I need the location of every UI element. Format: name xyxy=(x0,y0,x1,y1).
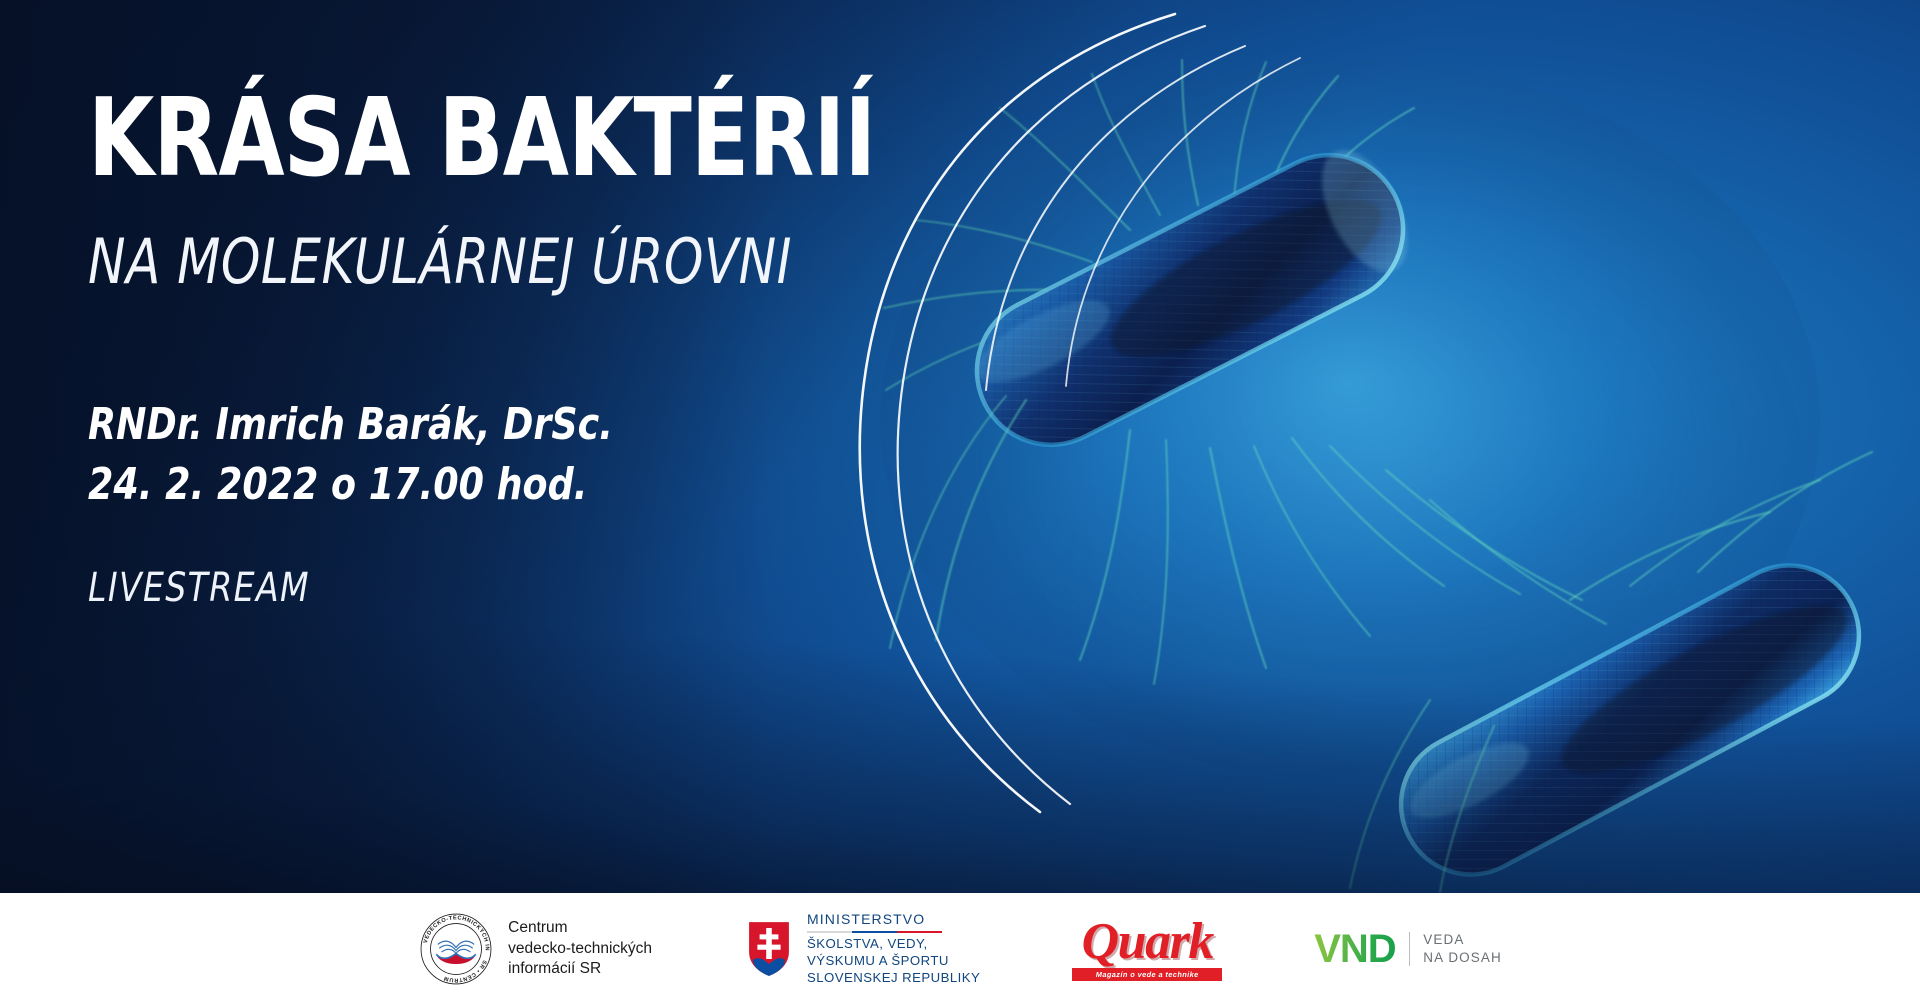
logo-quark: Quark Magazín o vede a technike xyxy=(1072,917,1222,981)
vnd-line-1: VEDA xyxy=(1423,933,1502,948)
ministerstvo-tricolor-rule xyxy=(807,931,942,934)
poster-stage: KRÁSA BAKTÉRIÍ NA MOLEKULÁRNEJ ÚROVNI RN… xyxy=(0,0,1920,893)
logo-ministerstvo: MINISTERSTVO ŠKOLSTVA, VEDY, VÝSKUMU A Š… xyxy=(744,911,980,987)
format-label: LIVESTREAM xyxy=(88,565,310,611)
ministerstvo-line-1: ŠKOLSTVA, VEDY, xyxy=(807,936,980,953)
poster-canvas: KRÁSA BAKTÉRIÍ NA MOLEKULÁRNEJ ÚROVNI RN… xyxy=(0,0,1920,1005)
vnd-divider xyxy=(1409,932,1411,966)
cvti-line-1: Centrum xyxy=(508,918,652,939)
ministerstvo-label: MINISTERSTVO ŠKOLSTVA, VEDY, VÝSKUMU A Š… xyxy=(807,911,980,987)
logo-vnd: VND VEDA NA DOSAH xyxy=(1314,929,1502,969)
footer-logo-bar: VEDECKO-TECHNICKÝCH INFORMÁCIÍ SR • CENT… xyxy=(0,893,1920,1005)
event-datetime: 24. 2. 2022 o 17.00 hod. xyxy=(88,463,587,507)
slovak-coat-of-arms-icon xyxy=(744,918,794,980)
speaker-name: RNDr. Imrich Barák, DrSc. xyxy=(88,403,613,447)
ministerstvo-line-2: VÝSKUMU A ŠPORTU xyxy=(807,953,980,970)
cvti-line-3: informácií SR xyxy=(508,959,652,980)
logo-cvti-sr: VEDECKO-TECHNICKÝCH INFORMÁCIÍ SR • CENT… xyxy=(418,911,652,987)
cvti-seal-icon: VEDECKO-TECHNICKÝCH INFORMÁCIÍ SR • CENT… xyxy=(418,911,494,987)
ministerstvo-top-line: MINISTERSTVO xyxy=(807,911,980,929)
ministerstvo-line-3: SLOVENSKEJ REPUBLIKY xyxy=(807,970,980,987)
quark-tagline: Magazín o vede a technike xyxy=(1096,970,1199,979)
page-title: KRÁSA BAKTÉRIÍ xyxy=(88,84,875,194)
vnd-wordmark: VND xyxy=(1314,929,1395,969)
poster-copy: KRÁSA BAKTÉRIÍ NA MOLEKULÁRNEJ ÚROVNI RN… xyxy=(0,0,900,893)
page-subtitle: NA MOLEKULÁRNEJ ÚROVNI xyxy=(88,230,792,293)
cvti-label: Centrum vedecko-technických informácií S… xyxy=(508,918,652,980)
cvti-line-2: vedecko-technických xyxy=(508,939,652,960)
quark-tagline-bar: Magazín o vede a technike xyxy=(1072,968,1222,981)
vnd-line-2: NA DOSAH xyxy=(1423,951,1502,966)
vnd-label: VEDA NA DOSAH xyxy=(1423,933,1502,966)
quark-wordmark: Quark xyxy=(1082,917,1213,967)
